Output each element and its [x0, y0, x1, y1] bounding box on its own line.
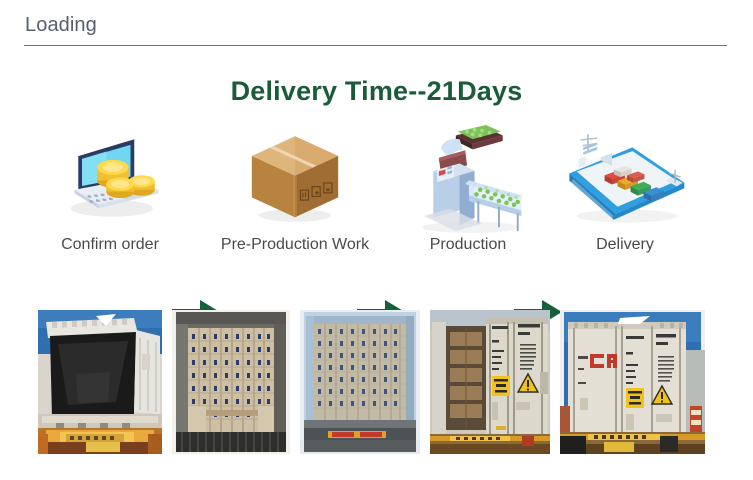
- flow-step-pre-production-work: Pre-Production Work: [215, 124, 375, 274]
- cardboard-box-icon: [215, 124, 375, 232]
- production-conveyor-icon: [388, 124, 548, 232]
- page-title: Loading: [25, 14, 97, 37]
- container-doors-open-photo: [430, 310, 550, 454]
- fully-loaded-container-photo: [300, 310, 420, 454]
- flow-step-production: Production: [388, 124, 548, 274]
- stacked-cartons-in-container-photo: [172, 310, 290, 454]
- process-flow: Confirm order: [0, 124, 753, 274]
- closed-container-on-truck-photo: [560, 310, 705, 454]
- flow-step-label: Pre-Production Work: [215, 236, 375, 254]
- delivery-time-heading: Delivery Time--21Days: [0, 76, 753, 107]
- flow-step-label: Production: [388, 236, 548, 254]
- photo-strip: [0, 310, 753, 454]
- container-ship-icon: [545, 124, 705, 232]
- laptop-with-coins-icon: [30, 124, 190, 232]
- empty-open-container-photo: [38, 310, 162, 454]
- flow-step-label: Delivery: [545, 236, 705, 254]
- flow-step-delivery: Delivery: [545, 124, 705, 274]
- flow-step-confirm-order: Confirm order: [30, 124, 190, 274]
- flow-step-label: Confirm order: [30, 236, 190, 254]
- page-header: Loading: [0, 0, 753, 48]
- header-divider: [24, 45, 727, 46]
